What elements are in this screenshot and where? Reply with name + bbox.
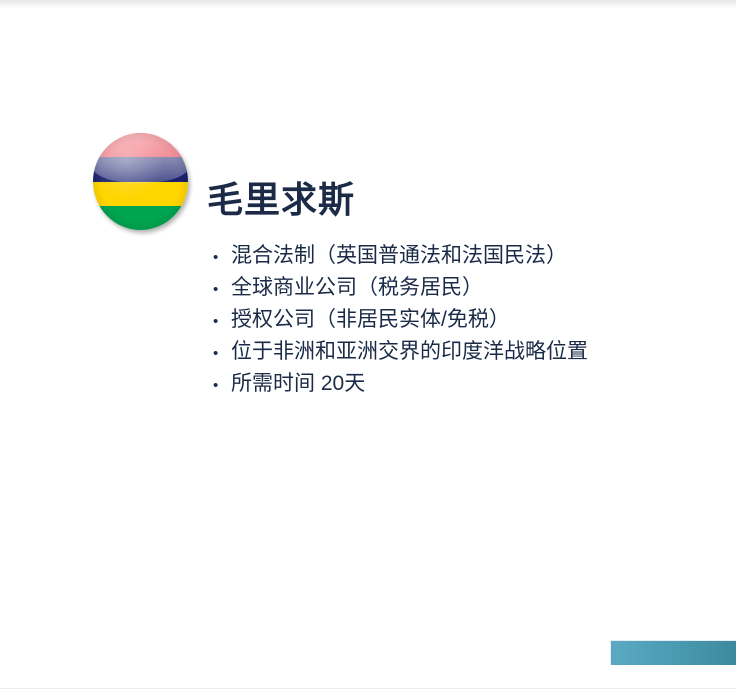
list-item: • 混合法制（英国普通法和法国民法） <box>213 241 588 273</box>
list-item-label: 全球商业公司（税务居民） <box>231 273 483 303</box>
slide-header: 毛里求斯 <box>93 133 355 230</box>
list-item: • 全球商业公司（税务居民） <box>213 273 588 305</box>
page-title: 毛里求斯 <box>207 146 355 218</box>
list-item: • 位于非洲和亚洲交界的印度洋战略位置 <box>213 337 588 369</box>
bullet-dot-icon: • <box>213 371 231 401</box>
flag-stripes <box>93 133 188 230</box>
list-item: • 所需时间 20天 <box>213 369 588 401</box>
list-item-label: 混合法制（英国普通法和法国民法） <box>231 241 567 271</box>
bullet-dot-icon: • <box>213 339 231 369</box>
bullet-dot-icon: • <box>213 243 231 273</box>
fact-bullet-list: • 混合法制（英国普通法和法国民法） • 全球商业公司（税务居民） • 授权公司… <box>213 241 588 401</box>
bullet-dot-icon: • <box>213 275 231 305</box>
flag-stripe-red <box>93 133 188 157</box>
list-item-label: 授权公司（非居民实体/免税） <box>231 305 510 335</box>
flag-stripe-green <box>93 206 188 230</box>
mauritius-flag-icon <box>93 133 188 230</box>
list-item-label: 位于非洲和亚洲交界的印度洋战略位置 <box>231 337 588 367</box>
list-item-label: 所需时间 20天 <box>231 369 365 399</box>
flag-stripe-yellow <box>93 182 188 206</box>
flag-stripe-blue <box>93 157 188 181</box>
top-edge-band <box>0 0 736 9</box>
list-item: • 授权公司（非居民实体/免税） <box>213 305 588 337</box>
bullet-dot-icon: • <box>213 307 231 337</box>
bottom-edge-rule <box>0 688 736 689</box>
accent-bar-decoration <box>610 640 736 665</box>
slide-canvas: 毛里求斯 • 混合法制（英国普通法和法国民法） • 全球商业公司（税务居民） •… <box>0 0 736 694</box>
